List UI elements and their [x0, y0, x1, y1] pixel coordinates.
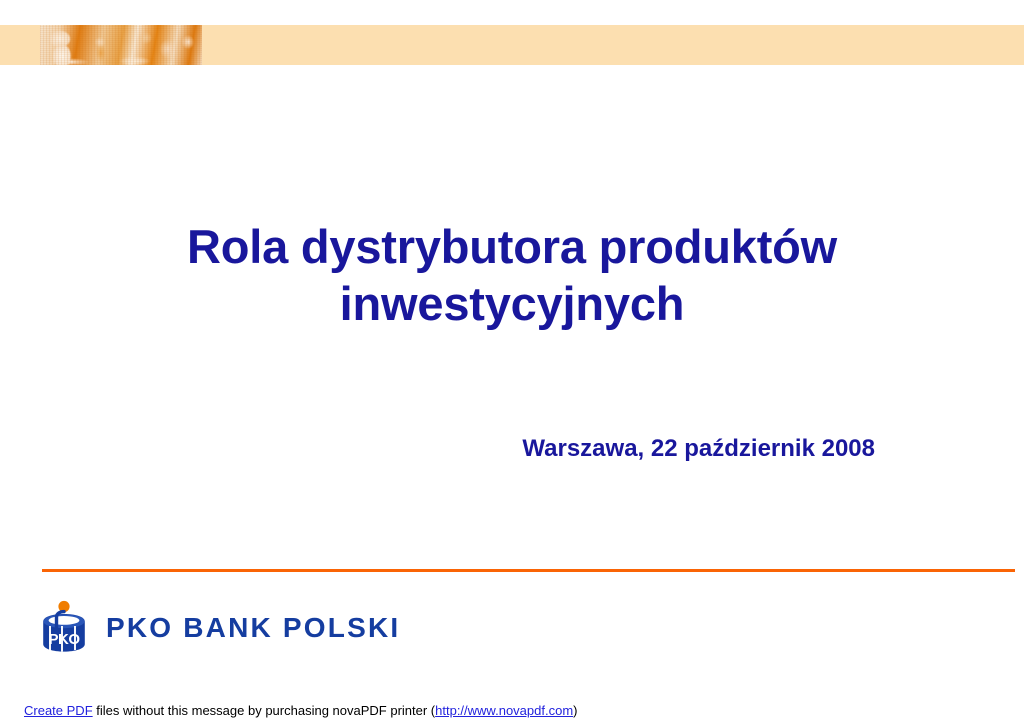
slide-date: Warszawa, 22 październik 2008 — [80, 435, 875, 463]
footer-middle-text: files without this message by purchasing… — [93, 703, 436, 718]
logo-mark-letters: PKO — [48, 631, 80, 648]
title-block: Rola dystrybutora produktów inwestycyjny… — [80, 218, 944, 333]
footer-closing-text: ) — [573, 703, 577, 718]
brand-logo: PKO PKO BANK POLSKI — [40, 598, 400, 658]
page-title: Rola dystrybutora produktów inwestycyjny… — [80, 218, 944, 333]
divider-rule — [42, 569, 1015, 572]
novapdf-watermark-note: Create PDF files without this message by… — [24, 703, 578, 718]
header-decorative-photo — [40, 25, 202, 65]
pko-drum-icon: PKO — [40, 600, 92, 656]
logo-drum-top-inner — [49, 616, 80, 625]
date-block: Warszawa, 22 październik 2008 — [80, 435, 875, 463]
create-pdf-link[interactable]: Create PDF — [24, 703, 93, 718]
pko-drum-icon-svg: PKO — [40, 600, 92, 656]
header-photo-grain-layer — [40, 25, 202, 65]
novapdf-url-link[interactable]: http://www.novapdf.com — [435, 703, 573, 718]
logo-wordmark: PKO BANK POLSKI — [106, 612, 400, 644]
